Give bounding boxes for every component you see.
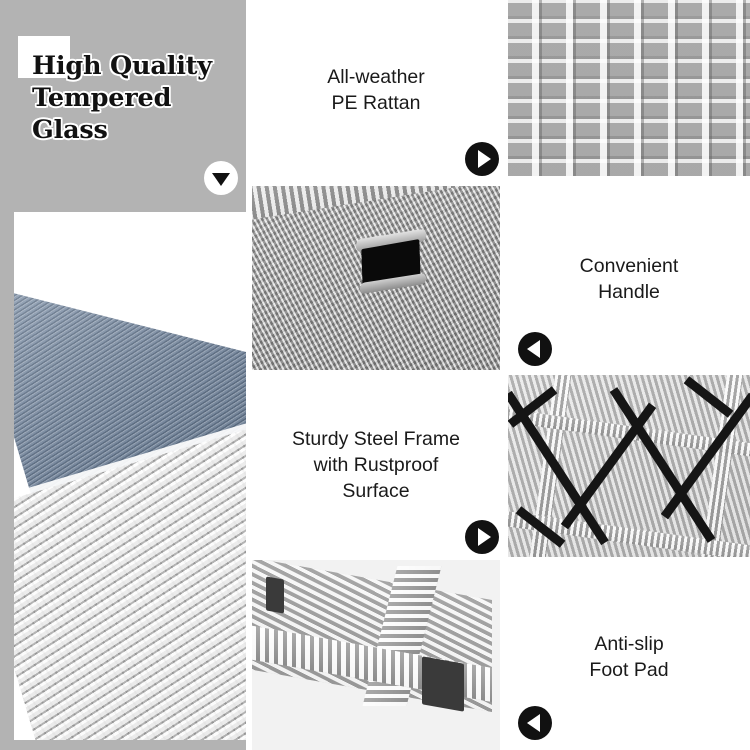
feature-photo-convenient-handle	[252, 186, 500, 370]
page-title: High Quality Tempered Glass	[18, 36, 242, 146]
triangle-left-icon	[527, 340, 540, 358]
feature-photo-all-weather-pe-rattan	[508, 0, 750, 176]
feature-label: Anti-slip Foot Pad	[589, 632, 668, 683]
triangle-left-icon	[527, 714, 540, 732]
next-feature-button-2[interactable]	[465, 520, 499, 554]
product-feature-infographic: High Quality Tempered Glass All-weather …	[0, 0, 750, 750]
feature-label: Convenient Handle	[580, 254, 679, 305]
triangle-down-icon	[212, 173, 230, 186]
previous-feature-button-2[interactable]	[518, 706, 552, 740]
feature-label: All-weather PE Rattan	[327, 65, 425, 116]
feature-text-all-weather-pe-rattan: All-weather PE Rattan	[252, 0, 500, 182]
next-feature-button-1[interactable]	[465, 142, 499, 176]
rattan-weave-texture	[508, 0, 750, 176]
anti-slip-foot-pad-left	[266, 576, 284, 613]
feature-text-sturdy-steel-frame: Sturdy Steel Frame with Rustproof Surfac…	[252, 375, 500, 557]
left-highlight-panel: High Quality Tempered Glass	[0, 0, 246, 750]
previous-feature-button-1[interactable]	[518, 332, 552, 366]
feature-photo-sturdy-steel-frame	[508, 375, 750, 557]
triangle-right-icon	[478, 528, 491, 546]
scroll-down-button[interactable]	[204, 161, 238, 195]
triangle-right-icon	[478, 150, 491, 168]
hero-product-photo	[14, 212, 246, 740]
headline-block: High Quality Tempered Glass	[18, 36, 242, 146]
feature-photo-anti-slip-foot-pad	[252, 560, 500, 750]
feature-label: Sturdy Steel Frame with Rustproof Surfac…	[292, 427, 460, 504]
anti-slip-foot-pad-right	[422, 656, 464, 711]
